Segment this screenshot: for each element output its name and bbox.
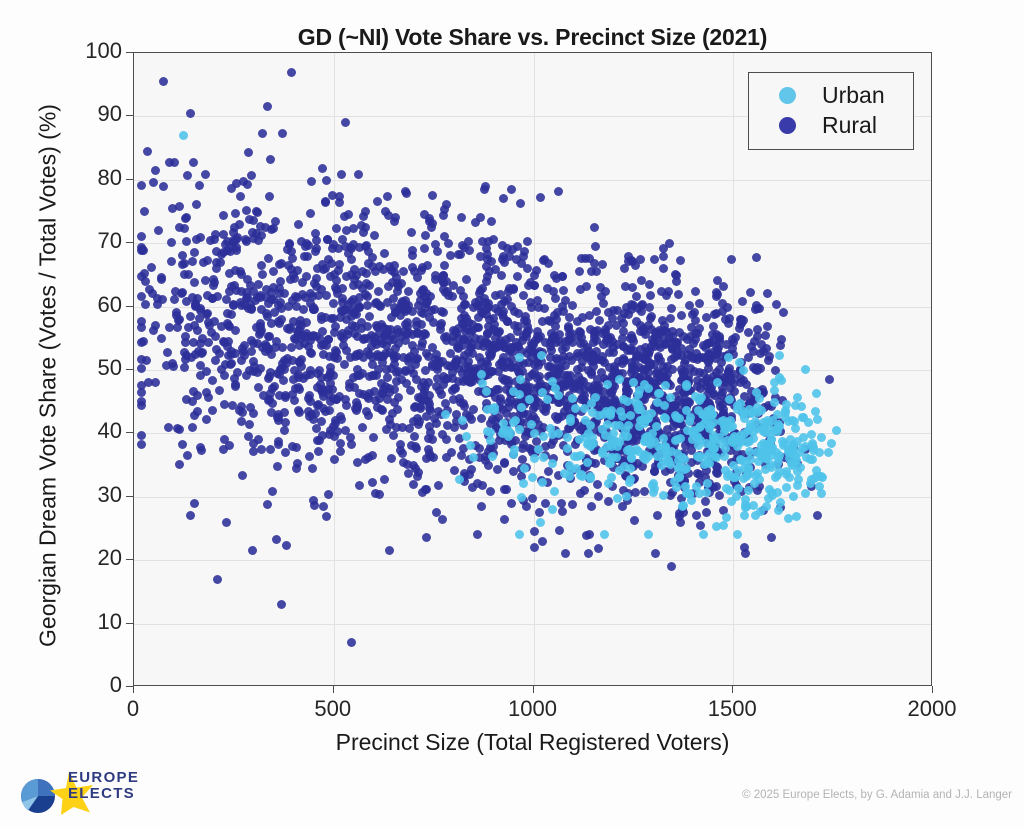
scatter-point-urban [688, 435, 697, 444]
y-tick-mark [126, 559, 133, 560]
scatter-point-urban [756, 507, 765, 516]
scatter-point-urban [832, 426, 841, 435]
scatter-point-rural [547, 346, 556, 355]
scatter-point-urban [534, 445, 543, 454]
scatter-point-rural [261, 223, 270, 232]
scatter-point-rural [277, 600, 286, 609]
scatter-point-rural [357, 221, 366, 230]
scatter-point-rural [178, 440, 187, 449]
legend-item-rural[interactable]: Rural [749, 110, 913, 140]
y-tick-mark [126, 52, 133, 53]
scatter-point-rural [326, 272, 335, 281]
scatter-point-rural [257, 231, 266, 240]
scatter-point-rural [358, 369, 367, 378]
scatter-point-rural [359, 390, 368, 399]
chart-legend: Urban Rural [748, 72, 914, 150]
scatter-point-rural [330, 432, 339, 441]
x-tick-mark [133, 686, 134, 693]
scatter-point-rural [724, 368, 733, 377]
scatter-point-rural [209, 281, 218, 290]
scatter-point-rural [528, 494, 537, 503]
scatter-point-rural [467, 415, 476, 424]
scatter-point-urban [515, 353, 524, 362]
scatter-point-urban [682, 380, 691, 389]
scatter-point-rural [195, 181, 204, 190]
scatter-point-rural [271, 343, 280, 352]
logo-wordmark-line1: EUROPE [68, 770, 139, 786]
scatter-point-urban [672, 483, 681, 492]
scatter-point-rural [725, 314, 734, 323]
scatter-point-rural [257, 445, 266, 454]
scatter-point-rural [332, 285, 341, 294]
scatter-point-rural [349, 240, 358, 249]
scatter-point-rural [779, 308, 788, 317]
scatter-point-rural [263, 102, 272, 111]
scatter-point-rural [387, 454, 396, 463]
scatter-point-rural [701, 497, 710, 506]
scatter-point-urban [499, 419, 508, 428]
scatter-point-rural [427, 223, 436, 232]
scatter-point-rural [208, 294, 217, 303]
scatter-point-rural [316, 335, 325, 344]
scatter-point-rural [169, 362, 178, 371]
scatter-point-rural [772, 300, 781, 309]
scatter-point-rural [347, 638, 356, 647]
scatter-point-rural [600, 396, 609, 405]
scatter-point-urban [699, 530, 708, 539]
scatter-point-rural [265, 192, 274, 201]
scatter-point-rural [223, 309, 232, 318]
scatter-point-urban [520, 464, 529, 473]
scatter-point-rural [282, 541, 291, 550]
scatter-point-rural [237, 417, 246, 426]
scatter-point-rural [650, 255, 659, 264]
scatter-point-urban [548, 459, 557, 468]
scatter-point-urban [683, 426, 692, 435]
scatter-point-rural [423, 261, 432, 270]
scatter-point-rural [189, 338, 198, 347]
scatter-point-rural [504, 403, 513, 412]
scatter-point-rural [283, 354, 292, 363]
scatter-point-rural [220, 435, 229, 444]
scatter-point-rural [338, 235, 347, 244]
scatter-point-rural [137, 440, 146, 449]
scatter-point-rural [755, 304, 764, 313]
scatter-point-urban [797, 402, 806, 411]
scatter-point-rural [319, 385, 328, 394]
scatter-point-rural [305, 452, 314, 461]
y-tick-mark [126, 115, 133, 116]
scatter-point-rural [585, 311, 594, 320]
scatter-point-urban [813, 415, 822, 424]
scatter-point-rural [183, 451, 192, 460]
logo-wordmark-line2: ELECTS [68, 786, 139, 802]
scatter-point-rural [323, 235, 332, 244]
scatter-point-rural [422, 349, 431, 358]
scatter-point-urban [539, 453, 548, 462]
scatter-point-rural [182, 395, 191, 404]
scatter-point-rural [242, 206, 251, 215]
scatter-point-urban [702, 439, 711, 448]
scatter-point-rural [660, 321, 669, 330]
scatter-point-urban [799, 433, 808, 442]
scatter-point-rural [263, 312, 272, 321]
scatter-point-rural [225, 322, 234, 331]
scatter-point-rural [280, 365, 289, 374]
y-tick-mark [126, 179, 133, 180]
chart-title: GD (~NI) Vote Share vs. Precinct Size (2… [133, 24, 932, 51]
scatter-point-rural [186, 312, 195, 321]
scatter-point-rural [306, 397, 315, 406]
scatter-point-rural [184, 323, 193, 332]
scatter-point-rural [223, 237, 232, 246]
scatter-point-rural [594, 544, 603, 553]
scatter-point-rural [329, 314, 338, 323]
scatter-point-rural [491, 265, 500, 274]
scatter-point-rural [568, 383, 577, 392]
scatter-point-rural [507, 499, 516, 508]
scatter-point-rural [202, 415, 211, 424]
scatter-point-urban [613, 442, 622, 451]
scatter-point-urban [733, 530, 742, 539]
scatter-point-rural [308, 464, 317, 473]
scatter-point-rural [692, 511, 701, 520]
scatter-point-urban [675, 414, 684, 423]
scatter-point-urban [782, 483, 791, 492]
scatter-point-rural [190, 499, 199, 508]
scatter-point-urban [720, 427, 729, 436]
scatter-point-rural [278, 129, 287, 138]
scatter-point-rural [397, 375, 406, 384]
scatter-point-rural [312, 236, 321, 245]
scatter-point-rural [432, 419, 441, 428]
scatter-point-rural [370, 231, 379, 240]
scatter-point-urban [548, 430, 557, 439]
legend-swatch-urban-icon [779, 87, 796, 104]
scatter-point-rural [363, 292, 372, 301]
scatter-point-rural [180, 363, 189, 372]
scatter-point-rural [674, 290, 683, 299]
scatter-point-urban [801, 489, 810, 498]
scatter-point-rural [561, 549, 570, 558]
scatter-point-urban [750, 479, 759, 488]
scatter-point-rural [238, 471, 247, 480]
scatter-point-rural [626, 334, 635, 343]
scatter-point-urban [659, 491, 668, 500]
scatter-point-rural [190, 278, 199, 287]
scatter-point-rural [368, 478, 377, 487]
scatter-point-rural [314, 447, 323, 456]
scatter-point-rural [557, 499, 566, 508]
scatter-point-rural [661, 340, 670, 349]
scatter-point-urban [563, 444, 572, 453]
scatter-point-rural [637, 276, 646, 285]
scatter-point-rural [667, 304, 676, 313]
x-tick-label: 500 [314, 696, 351, 722]
scatter-point-urban [528, 473, 537, 482]
scatter-point-rural [137, 388, 146, 397]
scatter-point-rural [286, 275, 295, 284]
scatter-point-urban [509, 387, 518, 396]
scatter-point-rural [412, 321, 421, 330]
scatter-point-rural [212, 247, 221, 256]
scatter-point-rural [446, 251, 455, 260]
scatter-point-rural [587, 502, 596, 511]
chart-figure: GD (~NI) Vote Share vs. Precinct Size (2… [0, 0, 1024, 827]
scatter-point-rural [767, 533, 776, 542]
scatter-point-rural [336, 447, 345, 456]
scatter-point-urban [515, 530, 524, 539]
scatter-point-rural [208, 406, 217, 415]
scatter-point-rural [322, 512, 331, 521]
scatter-point-urban [626, 446, 635, 455]
scatter-point-rural [404, 287, 413, 296]
scatter-point-rural [305, 412, 314, 421]
scatter-point-rural [407, 228, 416, 237]
scatter-point-rural [544, 467, 553, 476]
scatter-point-rural [374, 287, 383, 296]
scatter-point-rural [712, 288, 721, 297]
scatter-point-rural [559, 286, 568, 295]
scatter-point-rural [178, 260, 187, 269]
scatter-point-rural [375, 490, 384, 499]
scatter-point-rural [419, 390, 428, 399]
scatter-point-urban [728, 422, 737, 431]
scatter-point-rural [269, 224, 278, 233]
scatter-point-rural [667, 562, 676, 571]
scatter-point-rural [292, 302, 301, 311]
scatter-point-rural [451, 327, 460, 336]
scatter-point-rural [329, 299, 338, 308]
scatter-point-rural [462, 275, 471, 284]
scatter-point-rural [186, 511, 195, 520]
scatter-point-rural [172, 308, 181, 317]
scatter-point-rural [410, 432, 419, 441]
scatter-point-urban [519, 479, 528, 488]
scatter-point-rural [281, 393, 290, 402]
scatter-point-rural [226, 360, 235, 369]
scatter-point-rural [264, 254, 273, 263]
scatter-point-urban [603, 380, 612, 389]
scatter-point-rural [203, 256, 212, 265]
scatter-point-urban [647, 409, 656, 418]
scatter-point-urban [554, 391, 563, 400]
scatter-point-rural [227, 184, 236, 193]
scatter-point-rural [201, 276, 210, 285]
scatter-point-rural [331, 322, 340, 331]
scatter-point-rural [387, 364, 396, 373]
scatter-point-rural [224, 337, 233, 346]
scatter-point-rural [420, 244, 429, 253]
scatter-point-rural [154, 226, 163, 235]
scatter-point-rural [247, 347, 256, 356]
scatter-point-rural [151, 321, 160, 330]
scatter-point-urban [539, 432, 548, 441]
scatter-point-rural [411, 360, 420, 369]
scatter-point-urban [603, 442, 612, 451]
scatter-point-rural [653, 511, 662, 520]
scatter-point-rural [482, 305, 491, 314]
scatter-point-urban [725, 395, 734, 404]
scatter-point-rural [170, 158, 179, 167]
scatter-point-rural [599, 299, 608, 308]
scatter-point-rural [167, 238, 176, 247]
scatter-point-rural [568, 500, 577, 509]
scatter-point-rural [196, 371, 205, 380]
scatter-point-rural [587, 370, 596, 379]
scatter-point-rural [420, 210, 429, 219]
scatter-point-rural [662, 291, 671, 300]
scatter-point-rural [326, 368, 335, 377]
scatter-point-rural [362, 269, 371, 278]
scatter-point-rural [273, 462, 282, 471]
scatter-point-rural [689, 339, 698, 348]
scatter-point-rural [497, 358, 506, 367]
scatter-point-urban [817, 489, 826, 498]
scatter-point-rural [522, 502, 531, 511]
scatter-point-rural [714, 343, 723, 352]
scatter-point-rural [302, 272, 311, 281]
scatter-point-rural [535, 508, 544, 517]
scatter-point-rural [350, 275, 359, 284]
scatter-point-rural [763, 289, 772, 298]
scatter-point-rural [484, 461, 493, 470]
scatter-point-rural [355, 303, 364, 312]
scatter-point-rural [178, 251, 187, 260]
scatter-point-urban [702, 488, 711, 497]
scatter-point-rural [264, 332, 273, 341]
scatter-point-rural [500, 459, 509, 468]
scatter-point-rural [475, 353, 484, 362]
scatter-point-rural [148, 289, 157, 298]
scatter-point-rural [568, 301, 577, 310]
scatter-point-rural [519, 291, 528, 300]
scatter-point-rural [414, 420, 423, 429]
scatter-point-rural [464, 348, 473, 357]
scatter-point-rural [438, 515, 447, 524]
scatter-point-rural [290, 396, 299, 405]
scatter-point-rural [330, 455, 339, 464]
scatter-point-rural [208, 376, 217, 385]
scatter-point-rural [554, 413, 563, 422]
scatter-point-rural [539, 405, 548, 414]
scatter-point-urban [586, 474, 595, 483]
scatter-point-rural [516, 199, 525, 208]
scatter-point-urban [744, 463, 753, 472]
scatter-point-rural [486, 352, 495, 361]
scatter-point-urban [740, 429, 749, 438]
scatter-point-rural [319, 350, 328, 359]
y-axis-title: Georgian Dream Vote Share (Votes / Total… [35, 26, 62, 726]
scatter-point-rural [486, 487, 495, 496]
scatter-point-rural [669, 401, 678, 410]
scatter-point-rural [753, 325, 762, 334]
logo-wordmark: EUROPE ELECTS [68, 770, 139, 801]
scatter-point-rural [686, 364, 695, 373]
scatter-point-rural [216, 258, 225, 267]
scatter-point-rural [332, 395, 341, 404]
scatter-point-urban [486, 436, 495, 445]
scatter-point-rural [704, 358, 713, 367]
x-tick-label: 1500 [708, 696, 757, 722]
scatter-point-urban [538, 388, 547, 397]
scatter-point-urban [661, 414, 670, 423]
scatter-point-rural [140, 269, 149, 278]
scatter-point-rural [151, 378, 160, 387]
scatter-point-rural [249, 287, 258, 296]
scatter-point-rural [382, 329, 391, 338]
scatter-point-rural [309, 303, 318, 312]
scatter-point-rural [431, 240, 440, 249]
scatter-point-rural [450, 384, 459, 393]
scatter-point-rural [590, 223, 599, 232]
scatter-point-rural [440, 261, 449, 270]
y-tick-mark [126, 432, 133, 433]
scatter-point-rural [744, 328, 753, 337]
scatter-point-rural [528, 370, 537, 379]
scatter-point-rural [249, 339, 258, 348]
scatter-point-rural [182, 213, 191, 222]
scatter-point-rural [410, 267, 419, 276]
scatter-point-rural [254, 435, 263, 444]
scatter-point-rural [295, 385, 304, 394]
scatter-point-urban [462, 432, 471, 441]
scatter-point-rural [364, 411, 373, 420]
scatter-point-rural [380, 249, 389, 258]
scatter-point-rural [505, 284, 514, 293]
scatter-point-rural [408, 246, 417, 255]
scatter-point-urban [550, 487, 559, 496]
scatter-point-urban [583, 458, 592, 467]
scatter-point-rural [287, 68, 296, 77]
scatter-point-rural [736, 378, 745, 387]
scatter-point-rural [404, 469, 413, 478]
legend-item-urban[interactable]: Urban [749, 80, 913, 110]
scatter-point-rural [550, 311, 559, 320]
scatter-point-rural [394, 282, 403, 291]
scatter-point-rural [275, 319, 284, 328]
scatter-point-rural [633, 351, 642, 360]
scatter-point-rural [293, 266, 302, 275]
scatter-point-urban [510, 445, 519, 454]
scatter-point-rural [237, 287, 246, 296]
scatter-point-rural [244, 148, 253, 157]
scatter-point-rural [437, 390, 446, 399]
scatter-point-rural [247, 171, 256, 180]
scatter-point-rural [257, 261, 266, 270]
scatter-point-urban [626, 475, 635, 484]
scatter-point-urban [755, 394, 764, 403]
scatter-point-rural [763, 322, 772, 331]
scatter-point-urban [742, 472, 751, 481]
scatter-point-rural [186, 109, 195, 118]
scatter-point-rural [676, 518, 685, 527]
scatter-point-rural [245, 420, 254, 429]
scatter-point-rural [137, 401, 146, 410]
scatter-point-rural [358, 423, 367, 432]
scatter-point-rural [500, 515, 509, 524]
scatter-point-rural [157, 334, 166, 343]
scatter-point-rural [158, 295, 167, 304]
scatter-point-rural [576, 489, 585, 498]
scatter-point-rural [447, 448, 456, 457]
scatter-point-rural [231, 209, 240, 218]
scatter-point-rural [406, 386, 415, 395]
scatter-point-rural [469, 405, 478, 414]
scatter-point-urban [817, 433, 826, 442]
scatter-point-rural [237, 356, 246, 365]
x-tick-mark [533, 686, 534, 693]
